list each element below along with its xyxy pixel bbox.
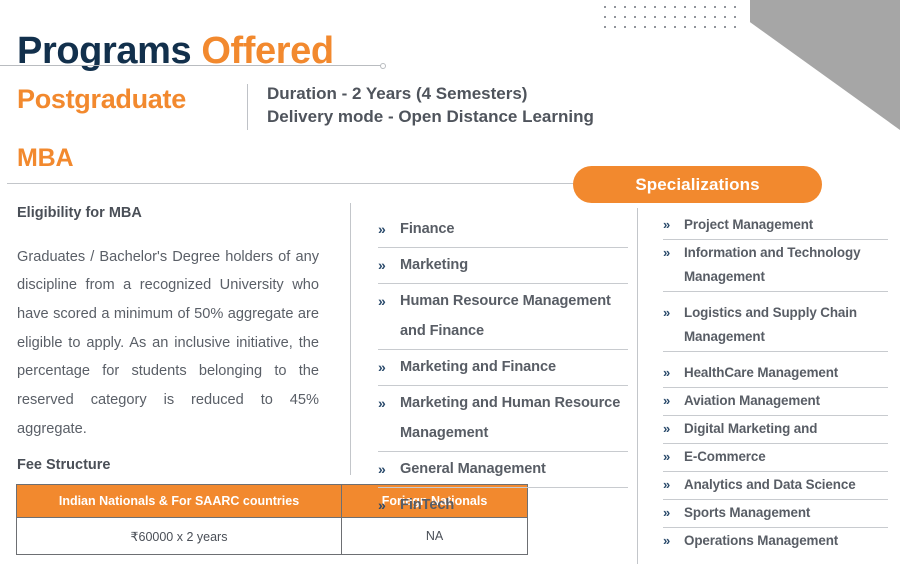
specialization-item-label: E-Commerce (684, 445, 888, 469)
specialization-item: »Marketing and Finance (378, 350, 628, 386)
specialization-item: »Human Resource Management and Finance (378, 284, 628, 350)
program-delivery-mode: Delivery mode - Open Distance Learning (267, 105, 594, 128)
chevron-double-right-icon: » (663, 241, 674, 265)
specialization-item: »Logistics and Supply Chain Management (663, 300, 888, 352)
eligibility-body-text: Graduates / Bachelor's Degree holders of… (17, 243, 319, 444)
fee-table-cell: ₹60000 x 2 years (17, 518, 342, 555)
specialization-item: »E-Commerce (663, 444, 888, 472)
specialization-item-label: Digital Marketing and (684, 417, 888, 441)
specialization-item-label: HealthCare Management (684, 361, 888, 385)
specialization-item-label: Information and Technology Management (684, 241, 888, 289)
specialization-item: »Analytics and Data Science (663, 472, 888, 500)
specialization-item: »Operations Management (663, 528, 888, 555)
specialization-item: »FinTech (378, 488, 628, 523)
specialization-item-label: Finance (400, 214, 628, 244)
chevron-double-right-icon: » (378, 352, 390, 382)
chevron-double-right-icon: » (663, 501, 674, 525)
specialization-item-label: FinTech (400, 490, 628, 520)
chevron-double-right-icon: » (378, 490, 390, 520)
specialization-item-label: Operations Management (684, 529, 888, 553)
meta-vertical-divider (247, 84, 248, 130)
specialization-item-label: Marketing (400, 250, 628, 280)
chevron-double-right-icon: » (378, 286, 390, 316)
chevron-double-right-icon: » (378, 214, 390, 244)
fee-table-header-cell: Indian Nationals & For SAARC countries (17, 485, 342, 518)
chevron-double-right-icon: » (663, 529, 674, 553)
specializations-badge: Specializations (573, 166, 822, 203)
column-divider-right (637, 208, 638, 564)
column-divider-left (350, 203, 351, 475)
specialization-item: »Marketing (378, 248, 628, 284)
fee-table-cell: NA (342, 518, 528, 555)
chevron-double-right-icon: » (663, 213, 674, 237)
specialization-item-label: Human Resource Management and Finance (400, 286, 628, 346)
chevron-double-right-icon: » (663, 417, 674, 441)
specialization-item: »General Management (378, 452, 628, 488)
specialization-list-right: »Project Management»Information and Tech… (663, 212, 888, 555)
chevron-double-right-icon: » (663, 473, 674, 497)
specialization-item-label: Sports Management (684, 501, 888, 525)
fee-table-row: ₹60000 x 2 years NA (17, 518, 528, 555)
chevron-double-right-icon: » (378, 454, 390, 484)
dot-grid-decoration (600, 2, 742, 32)
specialization-item: »Finance (378, 212, 628, 248)
program-level-label: Postgraduate (17, 84, 186, 115)
specialization-item-label: Logistics and Supply Chain Management (684, 301, 888, 349)
specialization-item: »Digital Marketing and (663, 416, 888, 444)
specialization-item-label: Marketing and Human Resource Management (400, 388, 628, 448)
gray-wedge-decoration (750, 0, 900, 130)
specialization-list-middle: »Finance»Marketing»Human Resource Manage… (378, 212, 628, 523)
chevron-double-right-icon: » (378, 388, 390, 418)
page-title-primary: Programs (17, 30, 191, 72)
chevron-double-right-icon: » (663, 389, 674, 413)
specialization-item-label: Analytics and Data Science (684, 473, 888, 497)
chevron-double-right-icon: » (663, 445, 674, 469)
specialization-item-label: General Management (400, 454, 628, 484)
specializations-badge-label: Specializations (635, 175, 759, 195)
header-divider-rule (0, 65, 382, 66)
program-meta-block: Duration - 2 Years (4 Semesters) Deliver… (267, 82, 594, 128)
program-duration: Duration - 2 Years (4 Semesters) (267, 82, 594, 105)
specialization-item-label: Marketing and Finance (400, 352, 628, 382)
fee-structure-heading: Fee Structure (17, 457, 110, 473)
specialization-item: »Sports Management (663, 500, 888, 528)
specialization-item: »Marketing and Human Resource Management (378, 386, 628, 452)
page-title: Programs Offered (17, 27, 334, 75)
specialization-item: »HealthCare Management (663, 360, 888, 388)
page-title-accent: Offered (201, 30, 333, 72)
program-name-label: MBA (17, 144, 73, 173)
specialization-item: »Information and Technology Management (663, 240, 888, 292)
eligibility-heading: Eligibility for MBA (17, 205, 142, 221)
chevron-double-right-icon: » (663, 361, 674, 385)
specialization-item-label: Project Management (684, 213, 888, 237)
chevron-double-right-icon: » (378, 250, 390, 280)
chevron-double-right-icon: » (663, 301, 674, 325)
specialization-item: »Aviation Management (663, 388, 888, 416)
section-divider-rule (7, 183, 599, 184)
specialization-item: »Project Management (663, 212, 888, 240)
specialization-item-label: Aviation Management (684, 389, 888, 413)
